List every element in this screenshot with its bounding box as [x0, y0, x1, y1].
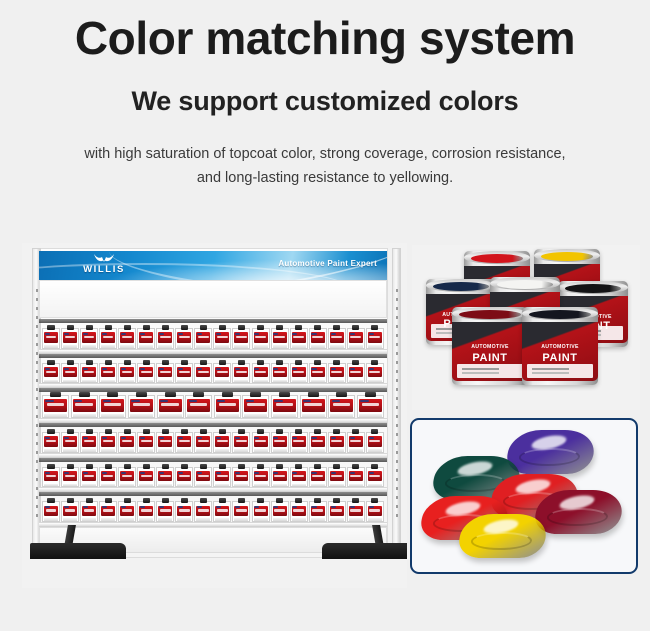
- can-base: [139, 345, 153, 348]
- paint-can: [252, 363, 270, 384]
- can-lid-icon: [257, 360, 264, 365]
- can-label: [311, 471, 325, 481]
- paint-can: [42, 363, 60, 384]
- can-label: [349, 436, 363, 446]
- paint-can: [232, 467, 250, 488]
- can-label: [158, 506, 172, 516]
- can-base: [330, 380, 344, 383]
- paint-can: [71, 395, 98, 418]
- can-lid-icon: [314, 325, 321, 330]
- can-lid-icon: [124, 498, 131, 503]
- can-label: [273, 471, 287, 481]
- paint-surface: [529, 310, 591, 319]
- paint-can: [290, 363, 308, 384]
- can-label: [158, 332, 172, 342]
- paint-can: [290, 467, 308, 488]
- can-lid-icon: [67, 360, 74, 365]
- can-lid-icon: [47, 464, 54, 469]
- can-label: [120, 471, 134, 481]
- can-lid-icon: [276, 325, 283, 330]
- can-lid-icon: [67, 498, 74, 503]
- can-base: [44, 518, 58, 521]
- can-lid-icon: [86, 325, 93, 330]
- paint-can: [137, 467, 155, 488]
- can-base: [120, 345, 134, 348]
- paint-can: [42, 395, 69, 418]
- rack-shelf-row: [39, 423, 387, 458]
- can-label: [120, 367, 134, 377]
- can-base: [44, 345, 58, 348]
- page-subtitle: We support customized colors: [0, 82, 650, 120]
- can-base: [196, 345, 210, 348]
- can-base: [63, 345, 77, 348]
- label-line-2: PAINT: [528, 352, 592, 364]
- can-base: [44, 449, 58, 452]
- can-label: [215, 367, 229, 377]
- can-label: [254, 506, 268, 516]
- label-line-2: PAINT: [458, 352, 522, 364]
- rack-shelf-row: [39, 319, 387, 354]
- can-base: [215, 380, 229, 383]
- willis-horns-logo-icon: [61, 253, 147, 264]
- can-base: [349, 345, 363, 348]
- can-base: [244, 414, 267, 417]
- can-lid-icon: [257, 498, 264, 503]
- paint-surface: [541, 252, 593, 261]
- can-label: [349, 367, 363, 377]
- can-base: [196, 518, 210, 521]
- can-label: [120, 436, 134, 446]
- rack-banner: WILLIS Automotive Paint Expert: [39, 251, 387, 280]
- shelf-can-row: [42, 358, 384, 384]
- can-label: [273, 436, 287, 446]
- can-lid-icon: [86, 498, 93, 503]
- can-lid-icon: [105, 498, 112, 503]
- can-lid-icon: [47, 325, 54, 330]
- rack-header-panel: [39, 280, 387, 318]
- can-base: [234, 380, 248, 383]
- can-lid-icon: [257, 464, 264, 469]
- can-base: [311, 380, 325, 383]
- can-label: [234, 471, 248, 481]
- shelf-can-row: [42, 496, 384, 522]
- can-base: [101, 414, 124, 417]
- can-lid-icon: [165, 392, 176, 397]
- can-lid-icon: [257, 325, 264, 330]
- paint-can: [252, 328, 270, 349]
- brand-logo: WILLIS: [61, 253, 147, 279]
- paint-can: [80, 501, 98, 522]
- paint-can: [80, 328, 98, 349]
- can-lid-icon: [67, 325, 74, 330]
- can-base: [120, 518, 134, 521]
- can-base: [273, 345, 287, 348]
- can-base: [368, 518, 382, 521]
- paint-can: [232, 501, 250, 522]
- can-base: [368, 484, 382, 487]
- paint-can: [175, 501, 193, 522]
- rack-shelves: [39, 319, 387, 527]
- can-label: [101, 367, 115, 377]
- can-lid-icon: [162, 429, 169, 434]
- can-label: [292, 471, 306, 481]
- paint-surface: [471, 254, 523, 263]
- paint-can: [156, 501, 174, 522]
- paint-can: [61, 501, 79, 522]
- can-label: [330, 367, 344, 377]
- paint-can: [347, 328, 365, 349]
- darkred-can: AUTOMOTIVEPAINT: [452, 307, 528, 385]
- can-lid-icon: [124, 360, 131, 365]
- paint-can: [175, 363, 193, 384]
- can-lid-icon: [50, 392, 61, 397]
- can-base: [273, 414, 296, 417]
- paint-can: [328, 432, 346, 453]
- can-base: [177, 518, 191, 521]
- can-base: [101, 518, 115, 521]
- can-lid-icon: [314, 429, 321, 434]
- paint-can: [252, 501, 270, 522]
- paint-can: [309, 328, 327, 349]
- can-base: [139, 449, 153, 452]
- page-description: with high saturation of topcoat color, s…: [0, 142, 650, 190]
- can-label: [273, 367, 287, 377]
- rack-shelf-row: [39, 388, 387, 423]
- can-base: [215, 449, 229, 452]
- can-lid-icon: [238, 325, 245, 330]
- can-base: [82, 380, 96, 383]
- can-label: [273, 506, 287, 516]
- can-label: [101, 332, 115, 342]
- rack-foot-right: [322, 543, 407, 559]
- can-base: [120, 449, 134, 452]
- rack-shelf-row: [39, 492, 387, 527]
- can-lid-icon: [67, 429, 74, 434]
- can-lid-icon: [314, 464, 321, 469]
- can-base: [330, 518, 344, 521]
- can-label: [130, 399, 153, 411]
- description-line-2: and long-lasting resistance to yellowing…: [0, 166, 650, 190]
- paint-can: [118, 467, 136, 488]
- can-base: [273, 449, 287, 452]
- can-label: [215, 471, 229, 481]
- can-base: [292, 449, 306, 452]
- can-base: [254, 518, 268, 521]
- can-label: [82, 471, 96, 481]
- can-base: [158, 518, 172, 521]
- can-label: [139, 471, 153, 481]
- can-base: [215, 345, 229, 348]
- can-label: [215, 436, 229, 446]
- paint-can: [194, 328, 212, 349]
- can-lid-icon: [200, 498, 207, 503]
- can-lid-icon: [295, 498, 302, 503]
- paint-can: [213, 467, 231, 488]
- can-base: [177, 345, 191, 348]
- can-lid-icon: [276, 360, 283, 365]
- paint-can: [271, 467, 289, 488]
- can-lid-icon: [67, 464, 74, 469]
- can-lid-icon: [352, 360, 359, 365]
- can-base: [63, 484, 77, 487]
- can-base: [44, 484, 58, 487]
- can-label: [349, 332, 363, 342]
- paint-can: [252, 467, 270, 488]
- can-base: [359, 414, 382, 417]
- can-label: [215, 506, 229, 516]
- can-lid-icon: [105, 429, 112, 434]
- paint-can: [42, 467, 60, 488]
- can-lid-icon: [105, 325, 112, 330]
- shelf-can-row: [42, 323, 384, 349]
- can-lid-icon: [371, 498, 378, 503]
- darknavy-can: AUTOMOTIVEPAINT: [522, 307, 598, 385]
- can-label: [187, 399, 210, 411]
- paint-surface: [459, 310, 521, 319]
- paint-can: [232, 363, 250, 384]
- can-lid-icon: [333, 360, 340, 365]
- can-label: [254, 471, 268, 481]
- paint-can: [61, 328, 79, 349]
- can-label: [139, 436, 153, 446]
- can-base: [292, 518, 306, 521]
- label-line-1: AUTOMOTIVE: [458, 344, 522, 350]
- can-label: [330, 332, 344, 342]
- can-lid-icon: [219, 429, 226, 434]
- can-label: [234, 436, 248, 446]
- can-base: [311, 449, 325, 452]
- can-label: [158, 471, 172, 481]
- paint-can: [309, 501, 327, 522]
- paint-can: [366, 432, 384, 453]
- paint-can: [99, 395, 126, 418]
- paint-cans-image: AUTOMOTIVEPAINTAUTOMOTIVEPAINTAUTOMOTIVE…: [412, 245, 640, 410]
- can-lid-icon: [314, 498, 321, 503]
- paint-can: [194, 432, 212, 453]
- can-label: [177, 436, 191, 446]
- paint-can: [61, 363, 79, 384]
- can-lid-icon: [181, 360, 188, 365]
- paint-can: [328, 501, 346, 522]
- can-lid-icon: [47, 498, 54, 503]
- can-base: [196, 449, 210, 452]
- can-label: [82, 506, 96, 516]
- paint-can: [61, 467, 79, 488]
- can-base: [234, 345, 248, 348]
- can-label: [196, 471, 210, 481]
- can-label: [273, 332, 287, 342]
- can-lid-icon: [333, 498, 340, 503]
- can-label: [177, 332, 191, 342]
- paint-can: [309, 432, 327, 453]
- paint-can: [309, 363, 327, 384]
- rack-shelf-row: [39, 458, 387, 493]
- yellow-swatch: [455, 514, 550, 558]
- can-base: [139, 518, 153, 521]
- paint-can: [156, 363, 174, 384]
- can-label: [311, 506, 325, 516]
- paint-can: [271, 432, 289, 453]
- can-base: [349, 484, 363, 487]
- paint-can: [137, 363, 155, 384]
- can-lid-icon: [352, 429, 359, 434]
- can-label: [139, 332, 153, 342]
- can-lid-icon: [181, 498, 188, 503]
- paint-rack-image: WILLIS Automotive Paint Expert: [22, 243, 407, 588]
- can-label: [349, 471, 363, 481]
- can-label: [292, 506, 306, 516]
- can-lid-icon: [105, 360, 112, 365]
- can-base: [254, 484, 268, 487]
- can-label: [330, 471, 344, 481]
- can-lid-icon: [86, 464, 93, 469]
- can-base: [139, 484, 153, 487]
- can-label: [120, 332, 134, 342]
- can-lid-icon: [143, 360, 150, 365]
- can-label: [311, 332, 325, 342]
- can-label: [82, 436, 96, 446]
- paint-can: [290, 432, 308, 453]
- paint-can: [61, 432, 79, 453]
- can-label: [44, 399, 67, 411]
- shelf-can-row: [42, 427, 384, 453]
- can-base: [82, 449, 96, 452]
- paint-can: [137, 501, 155, 522]
- paint-can: [232, 328, 250, 349]
- can-lid-icon: [181, 429, 188, 434]
- can-lid-icon: [162, 464, 169, 469]
- can-label: [234, 332, 248, 342]
- paint-can: [347, 432, 365, 453]
- swatch-contour: [517, 448, 582, 466]
- paint-surface: [565, 284, 621, 293]
- paint-can: [175, 432, 193, 453]
- paint-can: [80, 467, 98, 488]
- can-label: [330, 436, 344, 446]
- paint-surface: [433, 282, 489, 291]
- can-label: [196, 506, 210, 516]
- can-base: [177, 380, 191, 383]
- paint-can: [347, 467, 365, 488]
- paint-can: [99, 328, 117, 349]
- can-label: [63, 506, 77, 516]
- can-base: [216, 414, 239, 417]
- can-wrapper-label: AUTOMOTIVEPAINT: [522, 322, 598, 381]
- paint-can: [118, 328, 136, 349]
- can-base: [44, 414, 67, 417]
- can-lid-icon: [371, 464, 378, 469]
- paint-can: [118, 363, 136, 384]
- paint-can: [252, 432, 270, 453]
- paint-can: [99, 363, 117, 384]
- can-base: [349, 449, 363, 452]
- paint-can: [156, 467, 174, 488]
- can-base: [82, 518, 96, 521]
- paint-can: [156, 328, 174, 349]
- can-base: [215, 518, 229, 521]
- maroon-swatch: [531, 490, 626, 534]
- can-base: [215, 484, 229, 487]
- can-base: [330, 414, 353, 417]
- can-label: [292, 367, 306, 377]
- can-base: [311, 345, 325, 348]
- paint-can: [366, 328, 384, 349]
- paint-can: [194, 363, 212, 384]
- can-lid-icon: [105, 464, 112, 469]
- can-lid-icon: [219, 464, 226, 469]
- can-base: [158, 345, 172, 348]
- can-base: [254, 380, 268, 383]
- can-label: [44, 436, 58, 446]
- paint-can: [99, 501, 117, 522]
- can-base: [63, 449, 77, 452]
- can-label: [330, 506, 344, 516]
- description-line-1: with high saturation of topcoat color, s…: [0, 142, 650, 166]
- can-lid-icon: [295, 429, 302, 434]
- paint-can: [309, 467, 327, 488]
- can-base: [330, 345, 344, 348]
- paint-can: [42, 328, 60, 349]
- can-base: [159, 414, 182, 417]
- paint-can: [328, 395, 355, 418]
- can-label: [196, 367, 210, 377]
- can-base: [63, 380, 77, 383]
- can-lid-icon: [279, 392, 290, 397]
- paint-can: [185, 395, 212, 418]
- paint-can: [300, 395, 327, 418]
- brand-name: WILLIS: [61, 264, 147, 276]
- can-base: [158, 449, 172, 452]
- purple-swatch: [503, 430, 598, 474]
- can-lid-icon: [276, 464, 283, 469]
- swatch-contour: [469, 532, 534, 550]
- paint-can: [175, 467, 193, 488]
- can-base: [130, 414, 153, 417]
- can-label: [359, 399, 382, 411]
- can-base: [158, 380, 172, 383]
- can-base: [311, 518, 325, 521]
- can-wrapper-label: AUTOMOTIVEPAINT: [452, 322, 528, 381]
- can-lid-icon: [257, 429, 264, 434]
- can-label: [254, 332, 268, 342]
- can-lid-icon: [162, 325, 169, 330]
- can-base: [292, 484, 306, 487]
- can-base: [44, 380, 58, 383]
- can-lid-icon: [276, 498, 283, 503]
- paint-can: [347, 363, 365, 384]
- can-label: [234, 367, 248, 377]
- can-label: [44, 506, 58, 516]
- rack-slot-holes: [396, 289, 398, 519]
- paint-can: [328, 328, 346, 349]
- can-label: [368, 506, 382, 516]
- can-base: [101, 345, 115, 348]
- can-lid-icon: [365, 392, 376, 397]
- paint-can: [137, 432, 155, 453]
- can-base: [196, 484, 210, 487]
- can-label: [73, 399, 96, 411]
- paint-can: [156, 432, 174, 453]
- can-lid-icon: [162, 360, 169, 365]
- can-lid-icon: [200, 360, 207, 365]
- page-title: Color matching system: [0, 8, 650, 68]
- can-base: [234, 449, 248, 452]
- can-lid-icon: [333, 325, 340, 330]
- shelf-can-row: [42, 462, 384, 488]
- paint-can: [328, 467, 346, 488]
- can-label: [44, 471, 58, 481]
- can-label: [254, 436, 268, 446]
